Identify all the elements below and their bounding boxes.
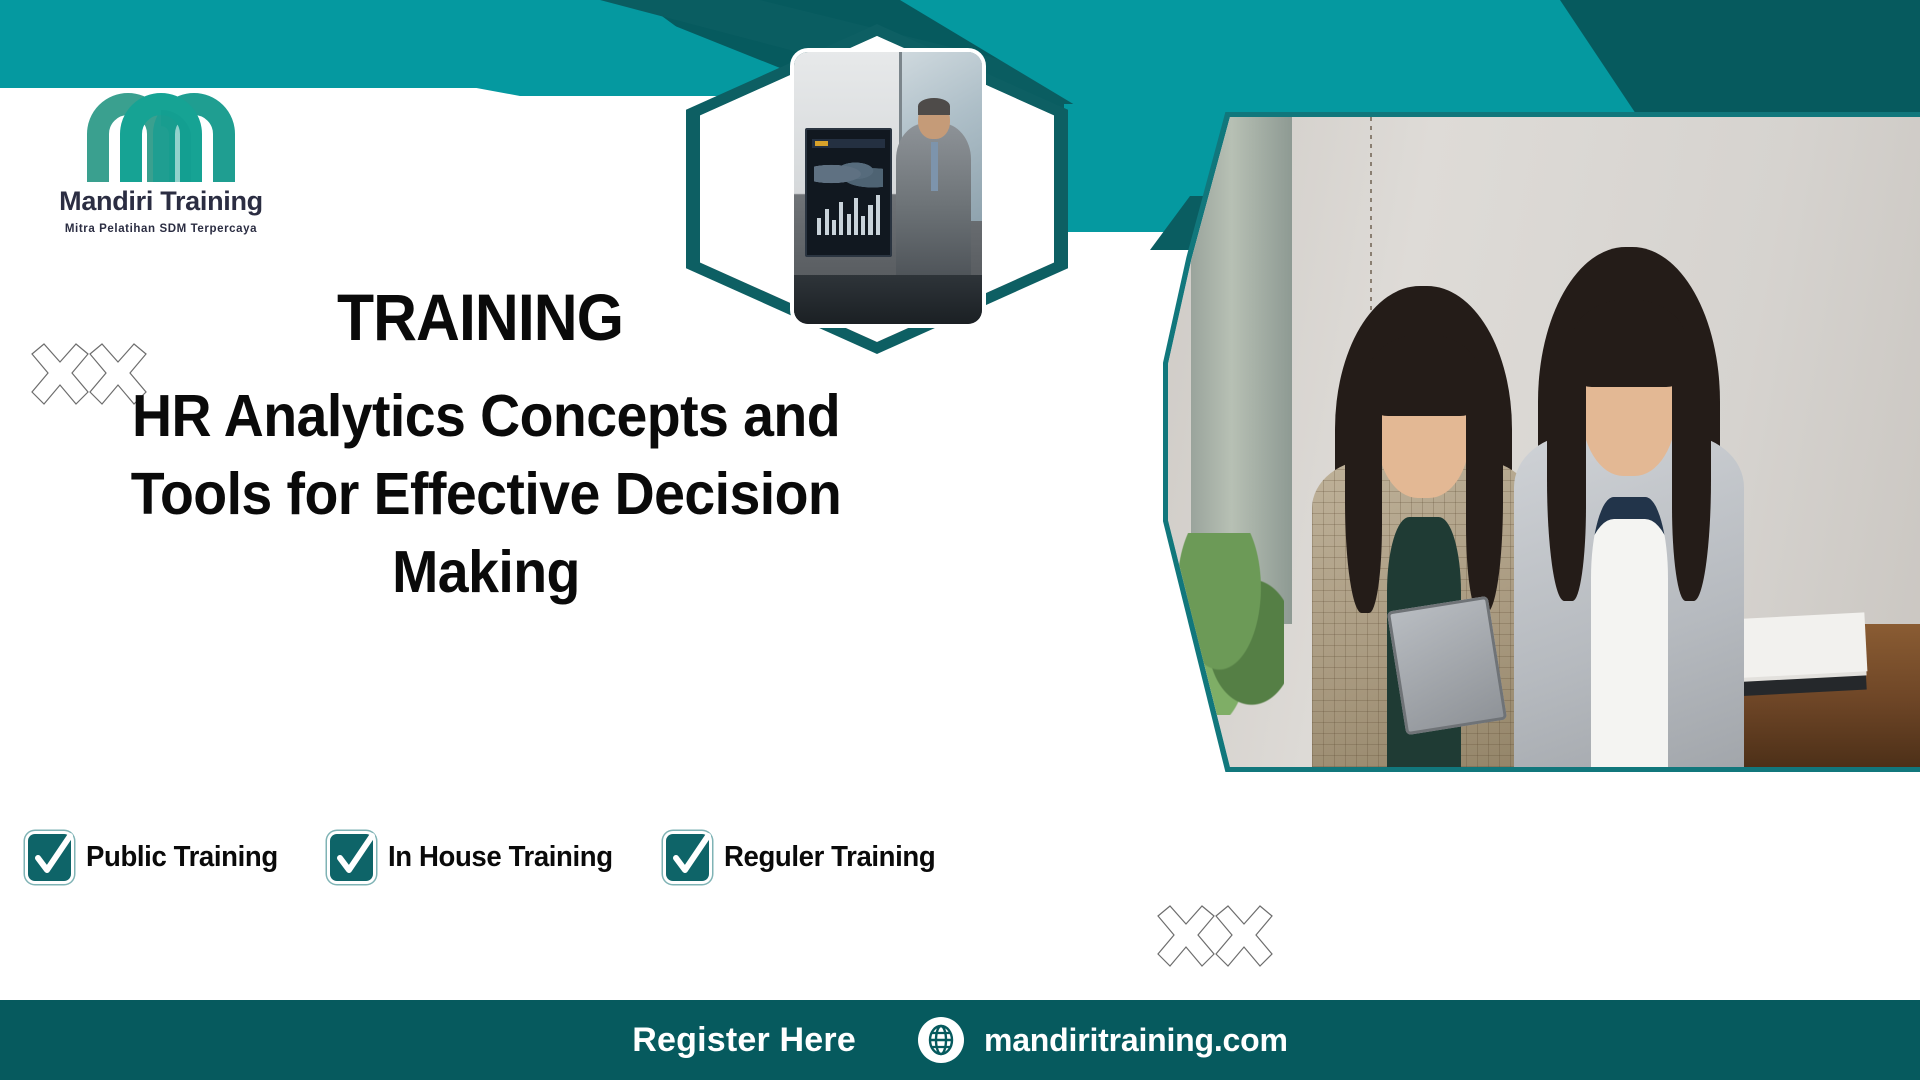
training-mode-item[interactable]: Reguler Training [666,834,946,881]
checkmark-glyph [664,830,712,884]
dashboard-bar-chart [817,193,880,236]
check-icon [28,834,71,881]
training-modes-list: Public Training In House Training Regule… [28,834,989,881]
woman-right [1509,247,1749,767]
page-title: HR Analytics Concepts and Tools for Effe… [82,378,890,612]
training-poster: Mandiri Training Mitra Pelatihan SDM Ter… [0,0,1920,1080]
cross-decoration-bottom [1148,902,1278,982]
dashboard-world-map [814,158,883,191]
hair-left [1345,363,1382,613]
dashboard-header-bar [812,139,885,148]
hair-right [1466,363,1503,613]
training-mode-label: In House Training [388,841,613,874]
checkmark-glyph [328,830,376,884]
brand-tagline: Mitra Pelatihan SDM Terpercaya [36,223,286,235]
training-mode-item[interactable]: In House Training [330,834,625,881]
hair-right [1672,330,1710,600]
presenter-tie [931,142,938,191]
training-mode-label: Reguler Training [724,841,935,874]
two-women-with-tablet-photo [1168,117,1920,767]
check-icon [330,834,373,881]
woman-left [1308,286,1541,767]
globe-icon [918,1017,964,1063]
tablet-device [1387,596,1508,736]
striped-top [1591,497,1668,767]
interlocking-rings-logo-icon [86,88,236,184]
eyebrow-training-label: TRAINING [112,284,848,350]
hair-front [1368,334,1480,416]
check-icon [666,834,709,881]
training-mode-label: Public Training [86,841,278,874]
globe-glyph [924,1023,958,1057]
hair-left [1547,330,1585,600]
register-here-label[interactable]: Register Here [632,1021,856,1060]
training-mode-item[interactable]: Public Training [28,834,288,881]
footer-bar: Register Here mandiritraining.com [0,1000,1920,1080]
hair-front [1571,299,1686,387]
brand-logo: Mandiri Training Mitra Pelatihan SDM Ter… [36,88,286,235]
right-photo-panel [1163,112,1920,772]
header-right-dark-corner [1560,0,1920,120]
website-url[interactable]: mandiritraining.com [984,1022,1288,1059]
checkmark-glyph [26,830,74,884]
brand-name: Mandiri Training [36,188,286,215]
dashboard-screen [805,128,892,257]
presenter-hair [918,98,950,114]
office-scene [1168,117,1920,767]
x-cross-outline-icon [1148,902,1278,982]
